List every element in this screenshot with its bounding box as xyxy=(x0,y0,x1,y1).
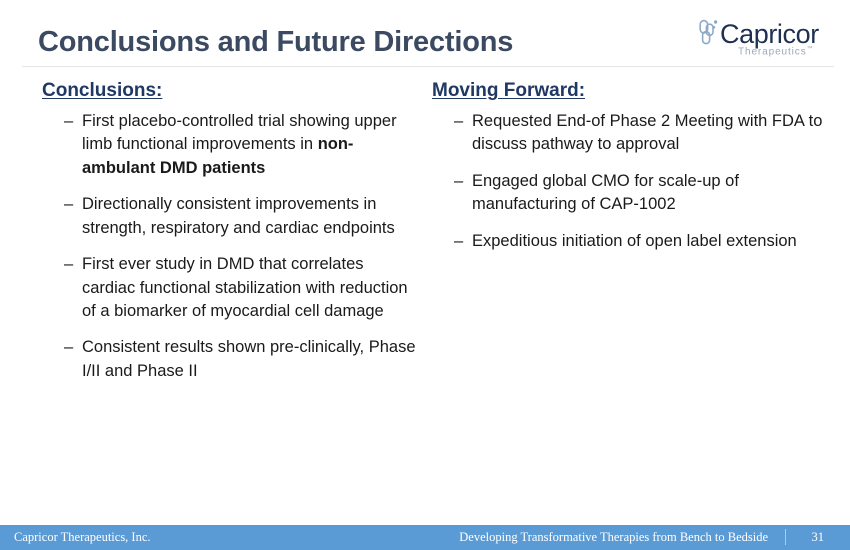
bullet-text: Consistent results shown pre-clinically,… xyxy=(82,338,416,379)
bullet-dash-icon: – xyxy=(64,336,73,359)
footer-company-name: Capricor Therapeutics, Inc. xyxy=(14,530,151,545)
list-item: – Expeditious initiation of open label e… xyxy=(428,230,823,253)
bullet-text: Expeditious initiation of open label ext… xyxy=(472,232,797,250)
list-item: – Requested End-of Phase 2 Meeting with … xyxy=(428,110,823,157)
footer-tagline: Developing Transformative Therapies from… xyxy=(459,530,768,545)
section-heading-conclusions: Conclusions: xyxy=(42,80,418,102)
list-item: – First ever study in DMD that correlate… xyxy=(38,253,418,323)
list-item: – Consistent results shown pre-clinicall… xyxy=(38,336,418,383)
section-heading-moving-forward: Moving Forward: xyxy=(432,80,823,102)
slide-body: Conclusions: – First placebo-controlled … xyxy=(0,80,850,520)
slide-footer: Capricor Therapeutics, Inc. Developing T… xyxy=(0,525,850,550)
list-item: – First placebo-controlled trial showing… xyxy=(38,110,418,180)
logo-subtext-label: Therapeutics xyxy=(738,46,807,57)
bullet-text: First placebo-controlled trial showing u… xyxy=(82,112,397,177)
bullet-dash-icon: – xyxy=(454,110,463,133)
bullet-dash-icon: – xyxy=(454,230,463,253)
footer-divider xyxy=(785,529,786,545)
brand-logo: Capricor Therapeutics™ xyxy=(692,16,822,62)
bullet-list-moving-forward: – Requested End-of Phase 2 Meeting with … xyxy=(428,110,823,253)
page-title: Conclusions and Future Directions xyxy=(38,26,513,59)
bullet-dash-icon: – xyxy=(64,110,73,133)
bullet-text: Engaged global CMO for scale-up of manuf… xyxy=(472,172,739,213)
column-conclusions: Conclusions: – First placebo-controlled … xyxy=(38,80,418,396)
logo-subtext: Therapeutics™ xyxy=(738,46,814,57)
bullet-list-conclusions: – First placebo-controlled trial showing… xyxy=(38,110,418,383)
slide-header: Conclusions and Future Directions Capric… xyxy=(0,0,850,70)
title-divider xyxy=(22,66,834,67)
bullet-text: Directionally consistent improvements in… xyxy=(82,195,395,236)
list-item: – Engaged global CMO for scale-up of man… xyxy=(428,170,823,217)
bullet-dash-icon: – xyxy=(64,193,73,216)
column-moving-forward: Moving Forward: – Requested End-of Phase… xyxy=(428,80,823,266)
bullet-text: Requested End-of Phase 2 Meeting with FD… xyxy=(472,112,822,153)
trademark-symbol: ™ xyxy=(807,46,814,52)
bullet-text: First ever study in DMD that correlates … xyxy=(82,255,408,320)
list-item: – Directionally consistent improvements … xyxy=(38,193,418,240)
bullet-dash-icon: – xyxy=(454,170,463,193)
footer-page-number: 31 xyxy=(812,530,825,545)
bullet-dash-icon: – xyxy=(64,253,73,276)
